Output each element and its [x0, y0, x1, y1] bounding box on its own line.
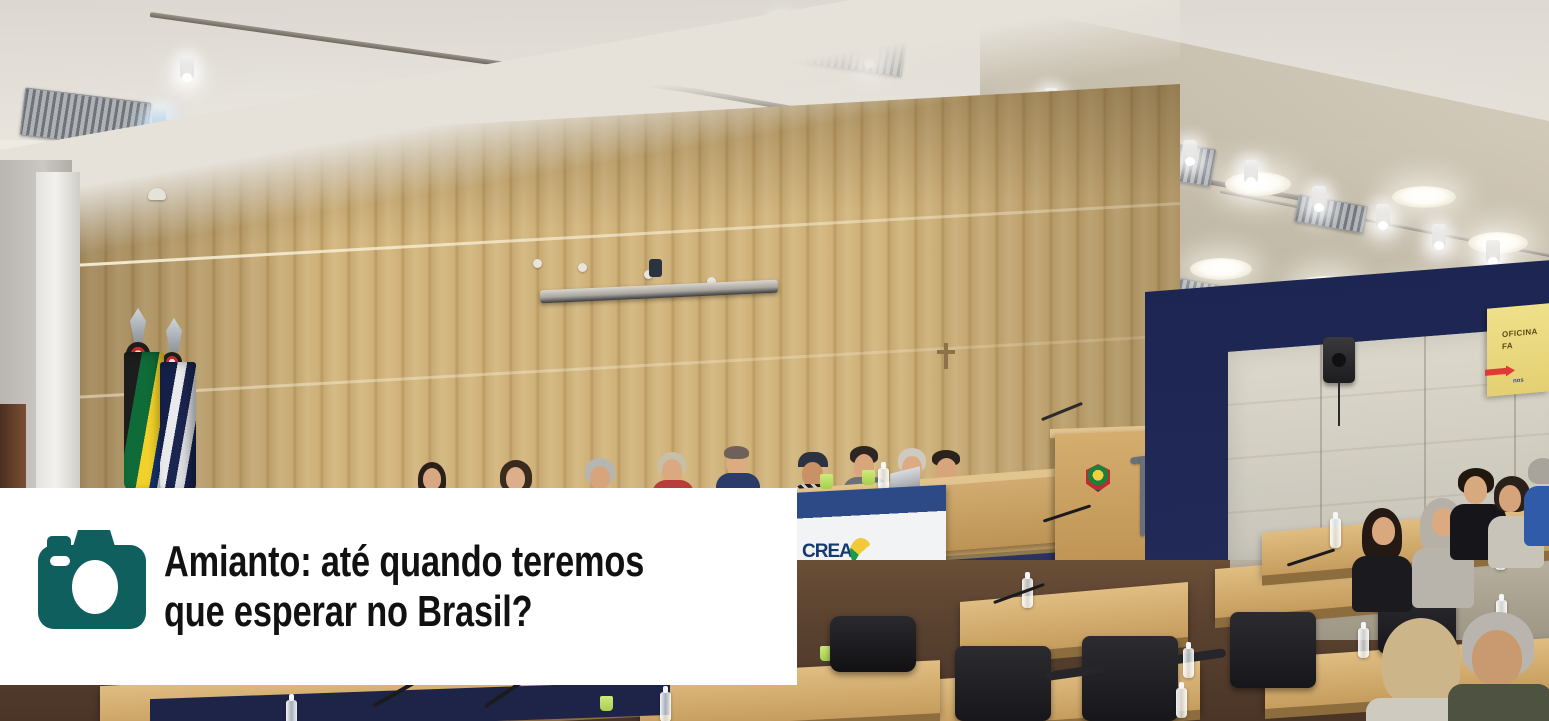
- camera-icon-lens: [72, 560, 118, 614]
- backpack: [830, 616, 916, 672]
- track-spotlight: [1244, 160, 1258, 182]
- hair: [1528, 458, 1549, 484]
- track-spotlight: [1486, 240, 1500, 262]
- pa-speaker: [1323, 337, 1355, 383]
- caption-line-2: que esperar no Brasil?: [164, 587, 658, 636]
- hair: [1382, 618, 1460, 704]
- torso: [1352, 556, 1412, 612]
- hand-sanitizer: [286, 700, 297, 721]
- audience-chair: [1230, 612, 1316, 688]
- camera-icon-viewfinder: [50, 556, 70, 566]
- torso: [1524, 486, 1549, 546]
- head: [1372, 517, 1395, 545]
- speaker-cable: [1338, 382, 1340, 426]
- camera-icon-flash-nub: [47, 536, 71, 550]
- head: [506, 467, 525, 490]
- slide-subtitle: nos: [1513, 378, 1524, 386]
- track-spotlight: [775, 18, 789, 40]
- track-spotlight: [862, 42, 876, 64]
- hand-sanitizer: [1358, 628, 1369, 658]
- downlight: [1392, 186, 1456, 208]
- track-spotlight: [152, 108, 166, 130]
- head: [423, 468, 441, 490]
- torso: [1448, 684, 1549, 721]
- audience-chair: [1082, 636, 1178, 721]
- downlight: [1190, 258, 1252, 280]
- track-spotlight: [1312, 186, 1326, 208]
- cup: [600, 696, 613, 711]
- track-spotlight: [180, 56, 194, 78]
- wall-clip: [578, 263, 587, 272]
- brazil-flag: [124, 352, 164, 492]
- wall-clip: [533, 259, 542, 268]
- track-spotlight: [1183, 140, 1197, 162]
- water-bottle: [878, 468, 889, 490]
- cup: [862, 470, 875, 485]
- crucifix: [944, 343, 948, 369]
- dome-camera: [148, 188, 166, 200]
- caption-line-1: Amianto: até quando teremos: [164, 537, 658, 586]
- hand-sanitizer: [660, 692, 671, 721]
- head: [1472, 630, 1522, 686]
- track-spotlight: [1376, 204, 1390, 226]
- cup: [820, 474, 833, 489]
- sao-paulo-flag: [160, 362, 196, 494]
- hand-sanitizer: [1183, 648, 1194, 678]
- head: [1464, 476, 1487, 504]
- audience-chair: [955, 646, 1051, 721]
- camera-icon-hump: [72, 530, 116, 550]
- screenshot-root: CREA Conselho Regional de Engenharia e A…: [0, 0, 1549, 721]
- desk-edge: [640, 713, 940, 721]
- caption-overlay: Amianto: até quando teremos que esperar …: [0, 488, 797, 685]
- downlight: [1225, 172, 1291, 196]
- hand-sanitizer: [1176, 688, 1187, 718]
- hand-sanitizer: [1330, 518, 1341, 548]
- track-spotlight: [1432, 224, 1446, 246]
- crea-wordmark: CREA: [802, 542, 852, 561]
- caption-text: Amianto: até quando teremos que esperar …: [164, 537, 658, 636]
- hair: [724, 446, 749, 459]
- wall-camera: [649, 259, 662, 277]
- camera-icon: [38, 545, 146, 629]
- head: [1499, 485, 1521, 512]
- head: [590, 466, 610, 490]
